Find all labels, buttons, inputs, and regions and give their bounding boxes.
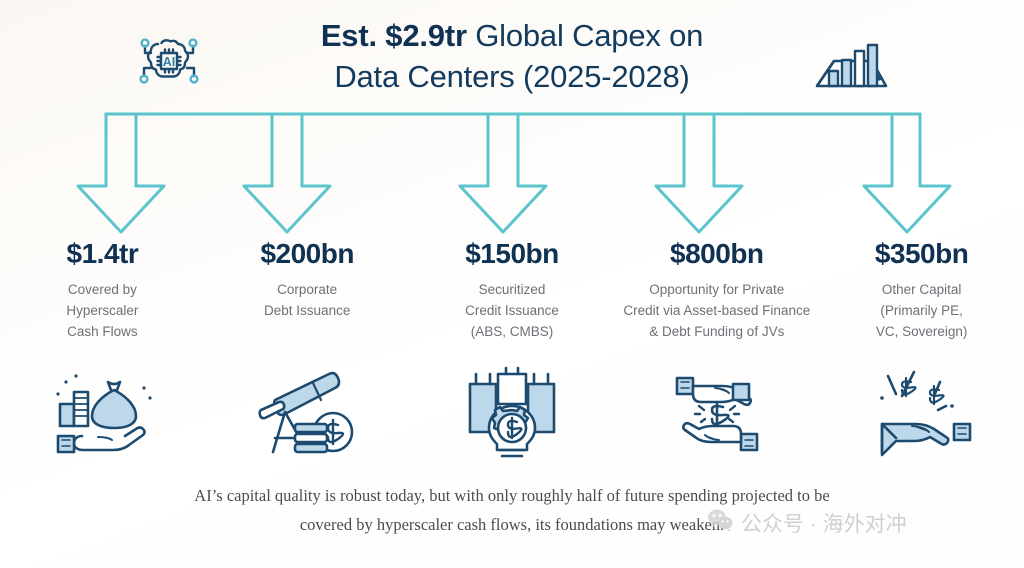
- distribution-arrows: [0, 108, 1024, 240]
- arrow-4: [656, 114, 742, 232]
- column-description: Other Capital (Primarily PE, VC, Soverei…: [876, 280, 968, 343]
- ai-chip-brain-icon: AI: [128, 22, 210, 107]
- column-amount: $1.4tr: [67, 238, 139, 270]
- capex-column-5: $350bn Other Capital (Primarily PE, VC, …: [819, 238, 1024, 468]
- arrow-3: [460, 114, 546, 232]
- ai-icon-label: AI: [163, 55, 176, 69]
- robot-hand-money-bag-icon: [46, 364, 158, 468]
- capex-column-2: $200bn Corporate Debt Issuance: [205, 238, 410, 468]
- arrow-2: [244, 114, 330, 232]
- robot-hands-exchange-dollar-icon: [661, 364, 773, 468]
- column-description: Corporate Debt Issuance: [264, 280, 350, 322]
- lightbulb-gear-dollar-servers-icon: [460, 364, 564, 468]
- column-description: Securitized Credit Issuance (ABS, CMBS): [465, 280, 559, 343]
- robot-hand-dollars-icon: [866, 364, 978, 468]
- capex-column-1: $1.4tr Covered by Hyperscaler Cash Flows: [0, 238, 205, 468]
- column-amount: $800bn: [670, 238, 764, 270]
- footer-caption-text: AI’s capital quality is robust today, bu…: [167, 482, 857, 540]
- column-amount: $200bn: [260, 238, 354, 270]
- capex-column-4: $800bn Opportunity for Private Credit vi…: [614, 238, 819, 468]
- title-line-2: Data Centers (2025-2028): [232, 57, 792, 98]
- column-description: Covered by Hyperscaler Cash Flows: [66, 280, 138, 343]
- column-amount: $150bn: [465, 238, 559, 270]
- arrow-5: [864, 114, 950, 232]
- column-amount: $350bn: [875, 238, 969, 270]
- telescope-coins-icon: [251, 364, 363, 468]
- page-title: Est. $2.9tr Global Capex on Data Centers…: [232, 16, 792, 98]
- title-rest: Global Capex on: [467, 18, 703, 53]
- column-description: Opportunity for Private Credit via Asset…: [623, 280, 810, 343]
- footer-caption: AI’s capital quality is robust today, bu…: [0, 482, 1024, 540]
- bar-chart-tablet-icon: [800, 38, 896, 109]
- arrow-1: [78, 114, 164, 232]
- capex-breakdown-columns: $1.4tr Covered by Hyperscaler Cash Flows: [0, 238, 1024, 468]
- title-strong: Est. $2.9tr: [321, 18, 467, 53]
- header: AI Est. $2.9tr Global Capex on Data Cent…: [0, 0, 1024, 112]
- capex-column-3: $150bn Securitized Credit Issuance (ABS,…: [410, 238, 615, 468]
